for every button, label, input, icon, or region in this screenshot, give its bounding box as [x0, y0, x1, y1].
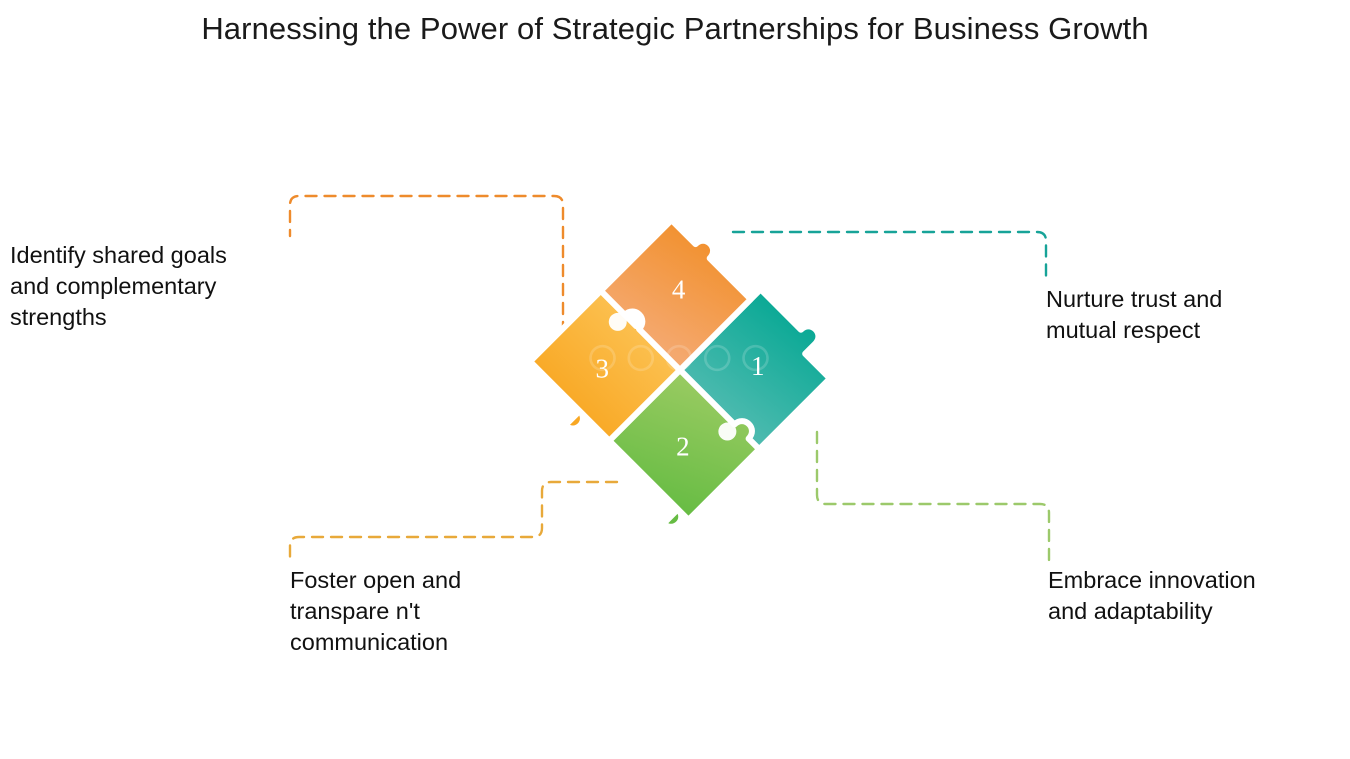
watermark: ○○○○○ [584, 323, 775, 389]
callout-bottom-left: Foster open and transpare n't communicat… [290, 565, 560, 658]
jigsaw-svg: 1 2 3 4 ○○○○○ [510, 198, 850, 543]
callout-top-left: Identify shared goals and complementary … [10, 240, 292, 333]
callout-bottom-right: Embrace innovation and adaptability [1048, 565, 1344, 627]
jigsaw-diagram: 1 2 3 4 ○○○○○ [510, 198, 850, 543]
puzzle-piece-4-number: 4 [672, 274, 686, 304]
svg-text:○○○○○: ○○○○○ [584, 323, 775, 389]
page-title: Harnessing the Power of Strategic Partne… [0, 11, 1350, 47]
callout-top-right: Nurture trust and mutual respect [1046, 284, 1336, 346]
connector-green [817, 432, 1049, 560]
puzzle-piece-2-number: 2 [676, 431, 690, 461]
